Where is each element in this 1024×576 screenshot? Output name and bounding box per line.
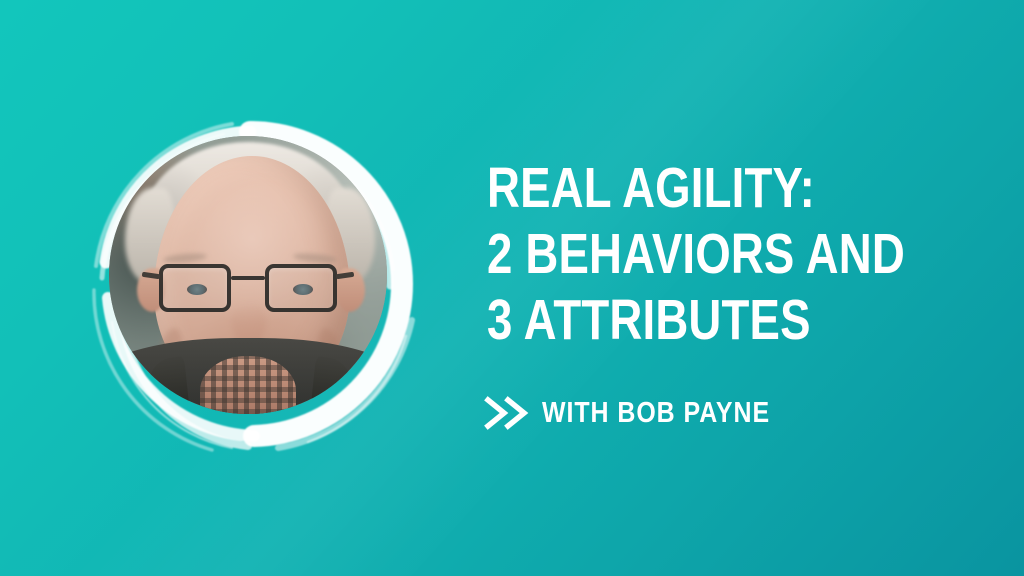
- title-line-1: REAL AGILITY:: [487, 155, 887, 221]
- glasses-bridge: [231, 276, 265, 280]
- subtitle-row: WITH BOB PAYNE: [484, 396, 807, 430]
- title-line-2: 2 BEHAVIORS AND: [487, 221, 887, 287]
- lens-left: [159, 264, 231, 312]
- lens-right: [265, 264, 337, 312]
- plaid-collar: [200, 356, 296, 414]
- title-block: REAL AGILITY: 2 BEHAVIORS AND 3 ATTRIBUT…: [487, 155, 987, 353]
- speaker-photo: [109, 136, 387, 414]
- portrait-block: [82, 112, 428, 468]
- subtitle-text: WITH BOB PAYNE: [542, 397, 770, 430]
- title-line-3: 3 ATTRIBUTES: [487, 287, 887, 353]
- presentation-slide: REAL AGILITY: 2 BEHAVIORS AND 3 ATTRIBUT…: [0, 0, 1024, 576]
- double-chevron-right-icon: [484, 396, 530, 430]
